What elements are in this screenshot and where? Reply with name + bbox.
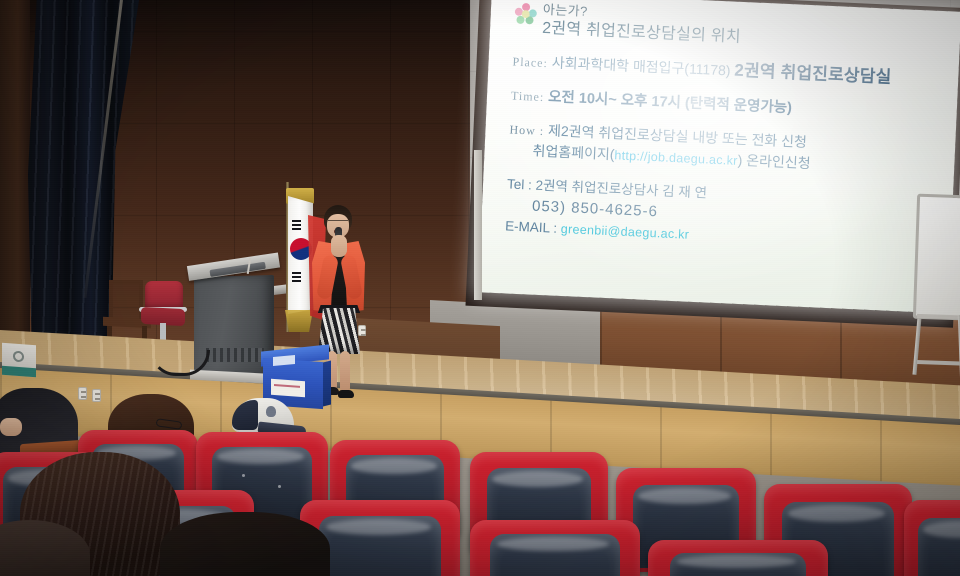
audience-hand <box>0 418 22 436</box>
auditorium-seat[interactable] <box>904 500 960 576</box>
flipchart-whiteboard <box>905 195 960 375</box>
email-address[interactable]: greenbii@daegu.ac.kr <box>561 222 690 242</box>
slide-content: 아는가? 2권역 취업진로상담실의 위치 Place: 사회과학대학 매점입구(… <box>478 0 960 314</box>
place-value: 사회과학대학 매점입구(11178) <box>551 54 730 78</box>
whiteboard-lower-brace <box>917 360 960 366</box>
power-outlet-icon <box>92 389 101 402</box>
box-logo-icon <box>13 351 24 363</box>
presenter-leg-right <box>340 351 350 393</box>
tel-label: Tel : <box>507 177 532 193</box>
cap-logo-icon <box>266 406 276 417</box>
presenter-glasses-icon <box>328 220 348 225</box>
how-line2-prefix: 취업홈페이지( <box>532 142 615 162</box>
place-label: Place: <box>512 55 548 71</box>
screen-side-strip <box>474 150 482 300</box>
slide-contact-block: Tel : 2권역 취업진로상담사 김 재 연 053) 850-4625-6 … <box>505 175 939 255</box>
auditorium-seat[interactable] <box>648 540 828 576</box>
flower-asterisk-icon <box>514 3 537 26</box>
lectern-vent-grille <box>206 348 264 362</box>
presenter-hands <box>331 235 347 257</box>
chair-back <box>109 280 143 320</box>
wall-left-edge <box>0 0 30 380</box>
screen-surface: 아는가? 2권역 취업진로상담실의 위치 Place: 사회과학대학 매점입구(… <box>478 0 960 314</box>
power-outlet-icon <box>78 387 87 400</box>
time-label: Time: <box>511 89 545 104</box>
email-label: E-MAIL : <box>505 218 558 235</box>
lecture-hall-photo: 아는가? 2권역 취업진로상담실의 위치 Place: 사회과학대학 매점입구(… <box>0 0 960 576</box>
slide-how-line: How : 제2권역 취업진로상담실 내방 또는 전화 신청 취업홈페이지(ht… <box>508 119 941 178</box>
projection-screen: 아는가? 2권역 취업진로상담실의 위치 Place: 사회과학대학 매점입구(… <box>465 0 960 328</box>
slide-place-line: Place: 사회과학대학 매점입구(11178) 2권역 취업진로상담실 <box>512 50 945 93</box>
how-label: How : <box>509 122 544 138</box>
how-line2-suffix: ) 온라인신청 <box>737 151 811 170</box>
slide-title-row: 아는가? 2권역 취업진로상담실의 위치 <box>514 2 947 57</box>
slide-time-line: Time: 오전 10시~ 오후 17시 (탄력적 운영가능) <box>511 86 943 126</box>
whiteboard-panel <box>913 194 960 322</box>
audience-person-foreground-center <box>160 512 330 576</box>
cap-navy-panel <box>232 400 258 430</box>
presenter-shoe-right <box>338 390 354 398</box>
auditorium-seat[interactable] <box>470 520 640 576</box>
job-site-url[interactable]: http://job.daegu.ac.kr <box>614 148 738 168</box>
container-front-label <box>271 379 305 397</box>
container-top-label <box>273 355 295 366</box>
place-emphasis: 2권역 취업진로상담실 <box>734 61 892 87</box>
screen-frame: 아는가? 2권역 취업진로상담실의 위치 Place: 사회과학대학 매점입구(… <box>465 0 960 328</box>
time-value: 오전 10시~ 오후 17시 (탄력적 운영가능) <box>548 89 792 116</box>
floor-white-box <box>2 343 36 377</box>
